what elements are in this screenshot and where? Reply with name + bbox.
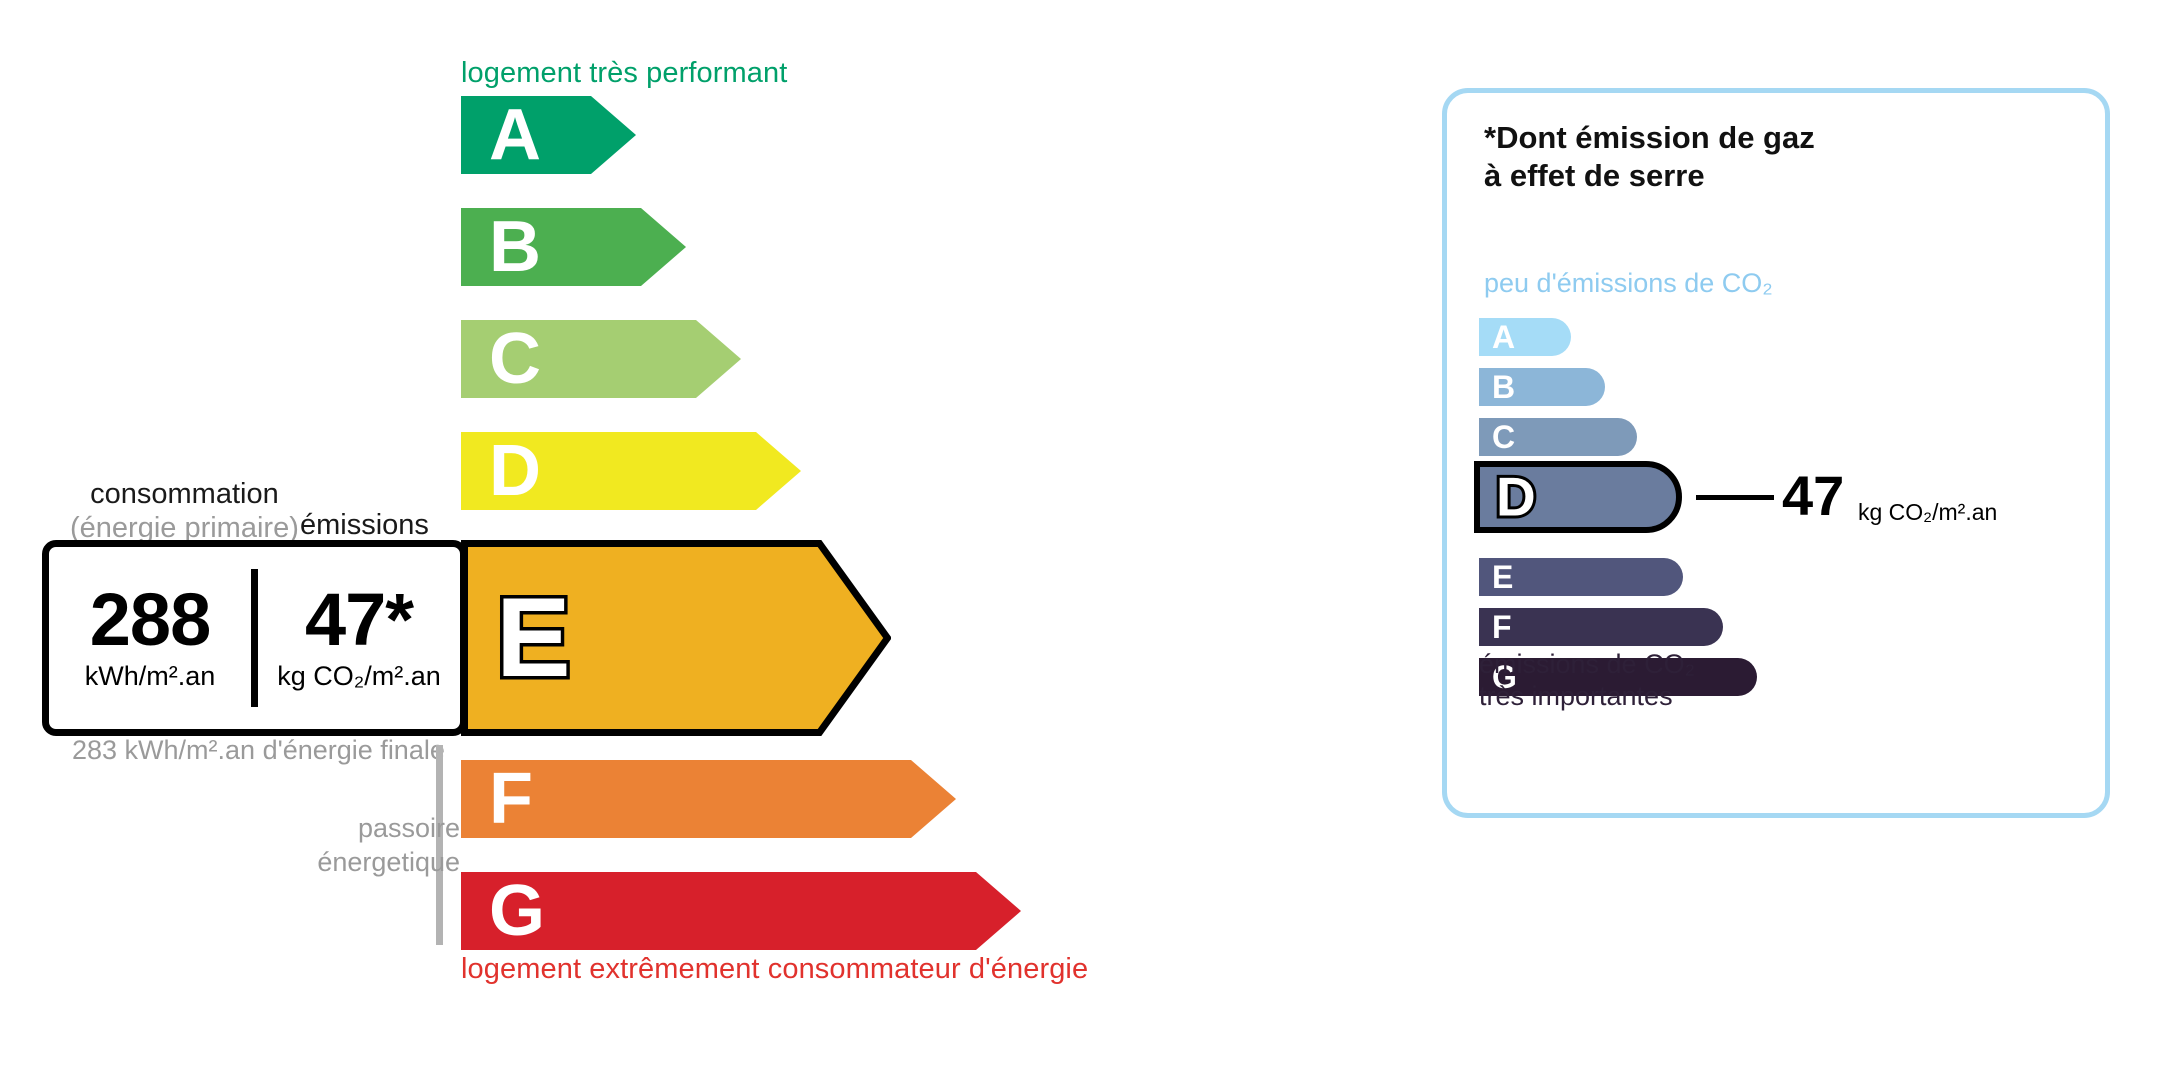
co2-class-letter-c: C — [1492, 421, 1515, 453]
energy-class-letter-a: A — [489, 99, 541, 171]
emissions-header: émissions — [300, 508, 429, 542]
co2-class-bar-b: B — [1479, 368, 1605, 406]
final-energy-note: 283 kWh/m².an d'énergie finale — [72, 733, 445, 768]
energy-class-letter-e: E — [496, 582, 571, 694]
energy-class-arrow-e: E — [461, 540, 891, 736]
passoire-energetique-label: passoire énergetique — [300, 812, 460, 880]
emission-value-cell: 47* kg CO₂/m².an — [258, 582, 460, 693]
primary-energy-unit: kWh/m².an — [85, 660, 216, 694]
co2-value: 47 — [1782, 468, 1844, 524]
co2-value-leader-line — [1696, 495, 1774, 500]
primary-energy-value-cell: 288 kWh/m².an — [49, 582, 251, 693]
energy-class-arrow-a: A — [461, 96, 636, 174]
co2-caption-top: peu d'émissions de CO₂ — [1484, 268, 1773, 299]
co2-caption-bottom: émissions de CO₂ très importantes — [1479, 648, 1695, 713]
value-box: 288 kWh/m².an 47* kg CO₂/m².an — [42, 540, 467, 736]
co2-class-letter-f: F — [1492, 611, 1512, 643]
co2-class-letter-d: D — [1496, 470, 1536, 525]
consumption-header-main: consommation — [90, 478, 279, 510]
energy-class-letter-d: D — [489, 435, 541, 507]
value-box-divider — [251, 569, 258, 707]
co2-class-bar-a: A — [1479, 318, 1571, 356]
co2-class-letter-b: B — [1492, 371, 1515, 403]
consumption-header: consommation (énergie primaire) — [70, 477, 299, 545]
energy-class-arrow-d: D — [461, 432, 801, 510]
energy-caption-bottom: logement extrêmement consommateur d'éner… — [461, 953, 1088, 986]
co2-class-letter-a: A — [1492, 321, 1515, 353]
dpe-label: logement très performant ABCDEFG consomm… — [0, 0, 2169, 1079]
co2-class-bar-c: C — [1479, 418, 1637, 456]
energy-caption-top: logement très performant — [461, 57, 787, 90]
energy-class-arrow-b: B — [461, 208, 686, 286]
co2-class-letter-e: E — [1492, 561, 1513, 593]
co2-value-unit: kg CO₂/m².an — [1858, 501, 1997, 524]
energy-consumption-panel: logement très performant ABCDEFG consomm… — [0, 0, 1400, 1079]
energy-class-letter-f: F — [489, 763, 533, 835]
energy-class-letter-b: B — [489, 211, 541, 283]
primary-energy-value: 288 — [90, 582, 210, 657]
co2-class-bar-f: F — [1479, 608, 1723, 646]
energy-class-arrow-g: G — [461, 872, 1021, 950]
energy-class-arrow-f: F — [461, 760, 956, 838]
emission-unit: kg CO₂/m².an — [277, 660, 441, 694]
energy-class-letter-c: C — [489, 323, 541, 395]
co2-class-bar-d: D — [1474, 461, 1682, 533]
co2-class-bar-e: E — [1479, 558, 1683, 596]
emission-value: 47* — [305, 582, 413, 657]
energy-class-letter-g: G — [489, 875, 545, 947]
co2-emissions-panel: *Dont émission de gaz à effet de serre p… — [1442, 88, 2110, 818]
co2-panel-title: *Dont émission de gaz à effet de serre — [1484, 119, 1815, 195]
energy-class-arrow-c: C — [461, 320, 741, 398]
